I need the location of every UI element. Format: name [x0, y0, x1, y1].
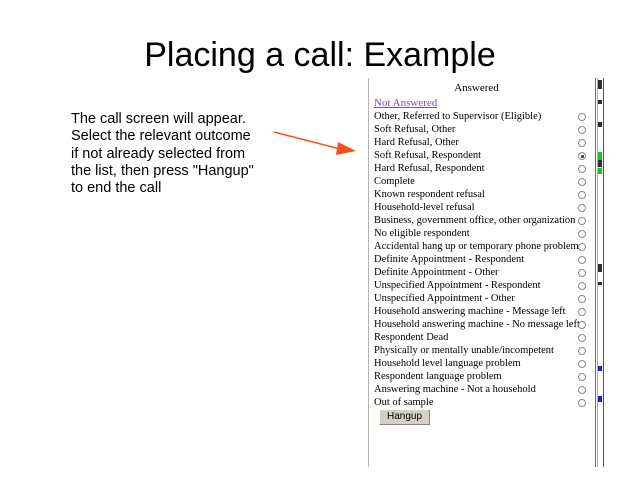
outcome-row[interactable]: Answering machine - Not a household	[369, 383, 595, 396]
outcome-radio-button[interactable]	[578, 256, 586, 264]
outcome-radio-button[interactable]	[578, 347, 586, 355]
outcome-row[interactable]: Household answering machine - Message le…	[369, 305, 595, 318]
outcome-row[interactable]: Unspecified Appointment - Respondent	[369, 279, 595, 292]
instruction-line-1: The call screen will appear.	[71, 111, 286, 128]
edge-artifact	[598, 100, 602, 104]
edge-artifact	[598, 264, 602, 272]
outcome-radio-button[interactable]	[578, 165, 586, 173]
outcome-label: Physically or mentally unable/incompeten…	[374, 344, 554, 357]
outcome-label: Answering machine - Not a household	[374, 383, 536, 396]
instruction-line-4: the list, then press "Hangup"	[71, 163, 286, 180]
outcome-row[interactable]: Physically or mentally unable/incompeten…	[369, 344, 595, 357]
outcome-label: Other, Referred to Supervisor (Eligible)	[374, 110, 541, 123]
hangup-button[interactable]: Hangup	[379, 409, 430, 425]
outcome-radio-button[interactable]	[578, 308, 586, 316]
outcome-row[interactable]: Accidental hang up or temporary phone pr…	[369, 240, 595, 253]
outcome-label: Soft Refusal, Other	[374, 123, 455, 136]
outcome-row[interactable]: Hard Refusal, Other	[369, 136, 595, 149]
outcome-radio-button[interactable]	[578, 334, 586, 342]
outcome-label: Accidental hang up or temporary phone pr…	[374, 240, 579, 253]
instruction-line-3: if not already selected from	[71, 146, 286, 163]
outcome-row[interactable]: Business, government office, other organ…	[369, 214, 595, 227]
outcome-label: Definite Appointment - Respondent	[374, 253, 524, 266]
outcome-radio-button[interactable]	[578, 230, 586, 238]
outcome-radio-button[interactable]	[578, 321, 586, 329]
edge-artifact	[598, 282, 602, 285]
outcome-label: Respondent language problem	[374, 370, 502, 383]
outcome-label: Household level language problem	[374, 357, 521, 370]
right-edge-strip	[597, 78, 604, 467]
outcome-radio-button[interactable]	[578, 399, 586, 407]
outcome-row[interactable]: Soft Refusal, Other	[369, 123, 595, 136]
outcome-radio-button[interactable]	[578, 282, 586, 290]
instruction-line-2: Select the relevant outcome	[71, 128, 286, 145]
edge-artifact	[598, 122, 602, 127]
outcome-label: Out of sample	[374, 396, 434, 409]
answered-header: Answered	[369, 82, 584, 94]
edge-artifact	[598, 152, 602, 160]
outcome-row[interactable]: Complete	[369, 175, 595, 188]
outcome-row[interactable]: Soft Refusal, Respondent	[369, 149, 595, 162]
outcome-row[interactable]: Respondent Dead	[369, 331, 595, 344]
outcome-row[interactable]: No eligible respondent	[369, 227, 595, 240]
outcome-radio-button[interactable]	[578, 295, 586, 303]
outcome-radio-button[interactable]	[578, 360, 586, 368]
outcome-row[interactable]: Definite Appointment - Respondent	[369, 253, 595, 266]
outcome-radio-button[interactable]	[578, 191, 586, 199]
outcome-row[interactable]: Out of sample	[369, 396, 595, 409]
page-title: Placing a call: Example	[0, 36, 640, 75]
outcome-radio-button[interactable]	[578, 269, 586, 277]
call-screen-panel: Answered Not Answered Other, Referred to…	[368, 78, 596, 467]
outcome-row[interactable]: Household level language problem	[369, 357, 595, 370]
outcome-row[interactable]: Household answering machine - No message…	[369, 318, 595, 331]
edge-artifact	[598, 366, 602, 371]
outcome-row[interactable]: Household-level refusal	[369, 201, 595, 214]
outcome-radio-button[interactable]	[578, 373, 586, 381]
outcome-row[interactable]: Definite Appointment - Other	[369, 266, 595, 279]
outcome-row[interactable]: Other, Referred to Supervisor (Eligible)	[369, 110, 595, 123]
instruction-text: The call screen will appear. Select the …	[71, 111, 286, 197]
outcome-label: Soft Refusal, Respondent	[374, 149, 481, 162]
outcome-label: Household answering machine - No message…	[374, 318, 580, 331]
outcome-radio-button[interactable]	[578, 217, 586, 225]
outcome-label: Business, government office, other organ…	[374, 214, 575, 227]
edge-artifact	[598, 396, 602, 402]
outcome-label: Unspecified Appointment - Other	[374, 292, 515, 305]
outcome-row[interactable]: Known respondent refusal	[369, 188, 595, 201]
outcome-label: Complete	[374, 175, 415, 188]
instruction-line-5: to end the call	[71, 180, 286, 197]
outcome-radio-button[interactable]	[578, 139, 586, 147]
outcome-label: Household answering machine - Message le…	[374, 305, 566, 318]
outcome-radio-button[interactable]	[578, 243, 586, 251]
edge-artifact	[598, 160, 602, 167]
outcome-radio-button[interactable]	[578, 178, 586, 186]
outcome-label: Hard Refusal, Respondent	[374, 162, 485, 175]
outcome-row[interactable]: Respondent language problem	[369, 370, 595, 383]
outcome-label: Unspecified Appointment - Respondent	[374, 279, 541, 292]
edge-artifact	[598, 80, 602, 89]
outcome-radio-button[interactable]	[578, 204, 586, 212]
outcome-label: Hard Refusal, Other	[374, 136, 459, 149]
outcome-radio-button[interactable]	[578, 386, 586, 394]
outcome-label: Definite Appointment - Other	[374, 266, 499, 279]
outcome-row[interactable]: Unspecified Appointment - Other	[369, 292, 595, 305]
outcome-label: Known respondent refusal	[374, 188, 485, 201]
not-answered-link[interactable]: Not Answered	[374, 97, 437, 109]
outcome-radio-button[interactable]	[578, 113, 586, 121]
outcome-label: No eligible respondent	[374, 227, 470, 240]
call-outcome-list: Other, Referred to Supervisor (Eligible)…	[369, 110, 595, 409]
outcome-label: Respondent Dead	[374, 331, 448, 344]
outcome-label: Household-level refusal	[374, 201, 475, 214]
outcome-radio-button[interactable]	[578, 126, 586, 134]
outcome-row[interactable]: Hard Refusal, Respondent	[369, 162, 595, 175]
edge-artifact	[598, 168, 602, 174]
slide-canvas: Placing a call: Example The call screen …	[0, 0, 640, 480]
outcome-radio-button[interactable]	[578, 152, 586, 160]
